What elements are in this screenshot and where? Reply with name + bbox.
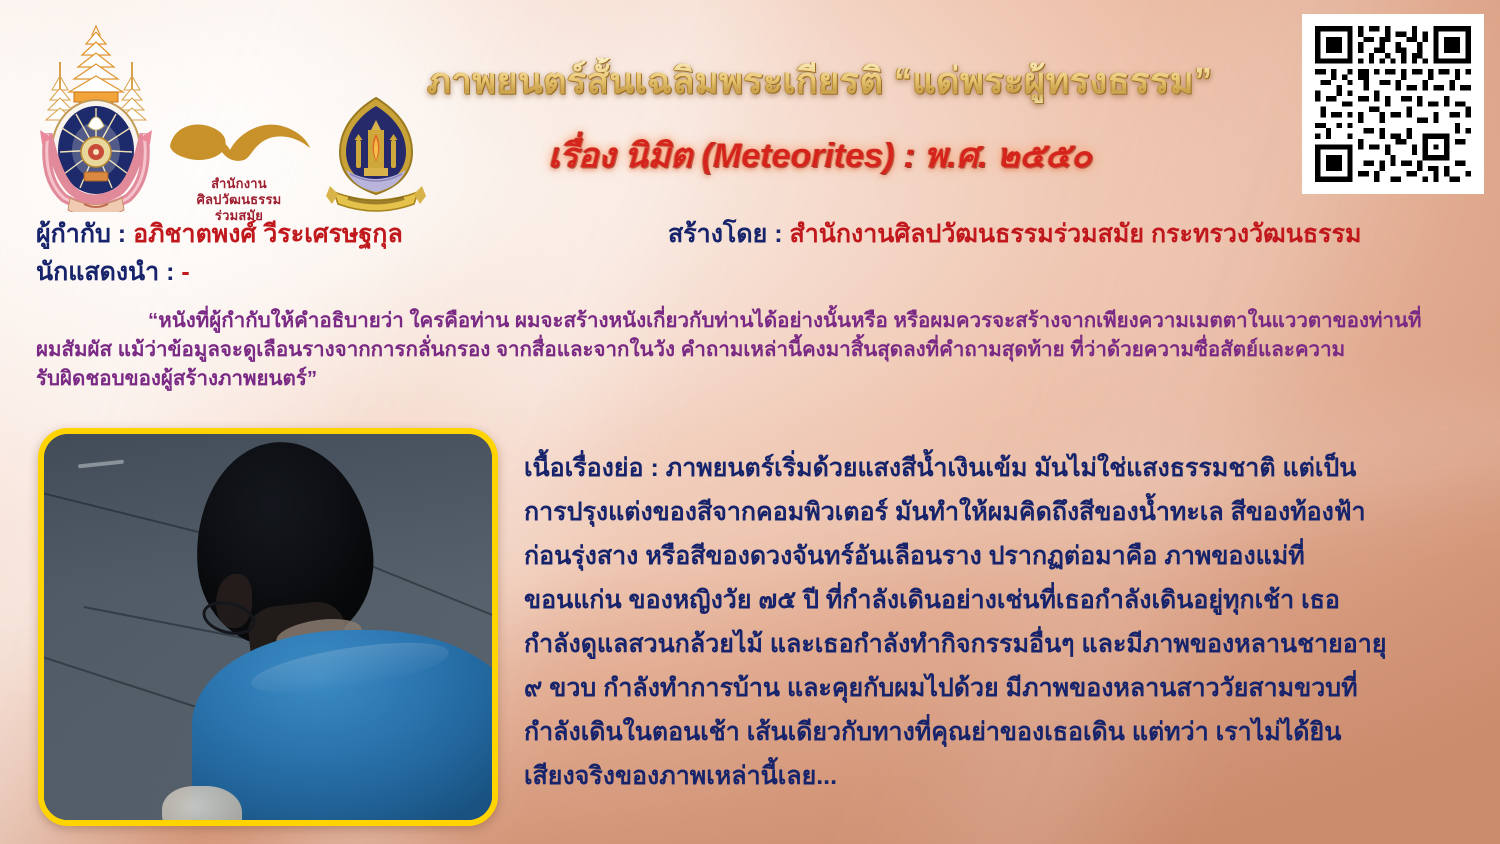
ocac-logo: สำนักงาน ศิลปวัฒนธรรม ร่วมสมัย (164, 112, 314, 212)
ocac-logo-line2: ศิลปวัฒนธรรม (164, 192, 314, 207)
qr-code-icon[interactable] (1315, 26, 1471, 182)
page-subtitle: เรื่อง นิมิต (Meteorites) : พ.ศ. ๒๕๕๐ (330, 134, 1310, 178)
quote-line: “หนังที่ผู้กำกับให้คำอธิบายว่า ใครคือท่า… (36, 306, 1468, 335)
quote-line: ผมสัมผัส แม้ว่าข้อมูลจะดูเลือนรางจากการก… (36, 335, 1468, 364)
synopsis-line: กำลังเดินในตอนเช้า เส้นเดียวกับทางที่คุณ… (524, 710, 1474, 754)
credit-director: ผู้กำกับ : อภิชาตพงศ์ วีระเศรษฐกุล (36, 218, 403, 250)
credit-director-value: อภิชาตพงศ์ วีระเศรษฐกุล (133, 220, 403, 248)
synopsis-label: เนื้อเรื่องย่อ : (524, 454, 659, 482)
film-still-photo (38, 428, 498, 826)
credit-producer: สร้างโดย : สำนักงานศิลปวัฒนธรรมร่วมสมัย … (668, 218, 1361, 250)
credit-cast-label: นักแสดงนำ : (36, 258, 174, 286)
synopsis-block: เนื้อเรื่องย่อ : ภาพยนตร์เริ่มด้วยแสงสีน… (524, 446, 1474, 798)
quote-line: รับผิดชอบของผู้สร้างภาพยนตร์” (36, 364, 1468, 393)
synopsis-first-line: เนื้อเรื่องย่อ : ภาพยนตร์เริ่มด้วยแสงสีน… (524, 446, 1474, 490)
ocac-wave-icon (164, 112, 314, 170)
credit-director-label: ผู้กำกับ : (36, 220, 126, 248)
ocac-logo-line1: สำนักงาน (164, 176, 314, 191)
synopsis-line: การปรุงแต่งของสีจากคอมพิวเตอร์ มันทำให้ผ… (524, 490, 1474, 534)
photo-vignette (44, 434, 492, 820)
credit-cast: นักแสดงนำ : - (36, 256, 190, 288)
royal-emblem-icon (32, 22, 160, 212)
logo-row: สำนักงาน ศิลปวัฒนธรรม ร่วมสมัย (24, 16, 424, 216)
synopsis-line: กำลังดูแลสวนกล้วยไม้ และเธอกำลังทำกิจกรร… (524, 622, 1474, 666)
credit-producer-value: สำนักงานศิลปวัฒนธรรมร่วมสมัย กระทรวงวัฒน… (789, 220, 1361, 248)
director-quote: “หนังที่ผู้กำกับให้คำอธิบายว่า ใครคือท่า… (36, 306, 1468, 393)
credit-cast-value: - (181, 258, 189, 286)
synopsis-line: ภาพยนตร์เริ่มด้วยแสงสีน้ำเงินเข้ม มันไม่… (666, 454, 1357, 482)
synopsis-line: ขอนแก่น ของหญิงวัย ๗๕ ปี ที่กำลังเดินอย่… (524, 578, 1474, 622)
synopsis-line: เสียงจริงของภาพเหล่านี้เลย... (524, 754, 1474, 798)
qr-code-container[interactable] (1302, 14, 1484, 194)
synopsis-line: ๙ ขวบ กำลังทำการบ้าน และคุยกับผมไปด้วย ม… (524, 666, 1474, 710)
presentation-slide: สำนักงาน ศิลปวัฒนธรรม ร่วมสมัย (0, 0, 1500, 844)
film-still-scene (44, 434, 492, 820)
page-title: ภาพยนตร์สั้นเฉลิมพระเกียรติ “แด่พระผู้ทร… (330, 58, 1310, 104)
synopsis-line: ก่อนรุ่งสาง หรือสีของดวงจันทร์อันเลือนรา… (524, 534, 1474, 578)
credit-producer-label: สร้างโดย : (668, 220, 783, 248)
